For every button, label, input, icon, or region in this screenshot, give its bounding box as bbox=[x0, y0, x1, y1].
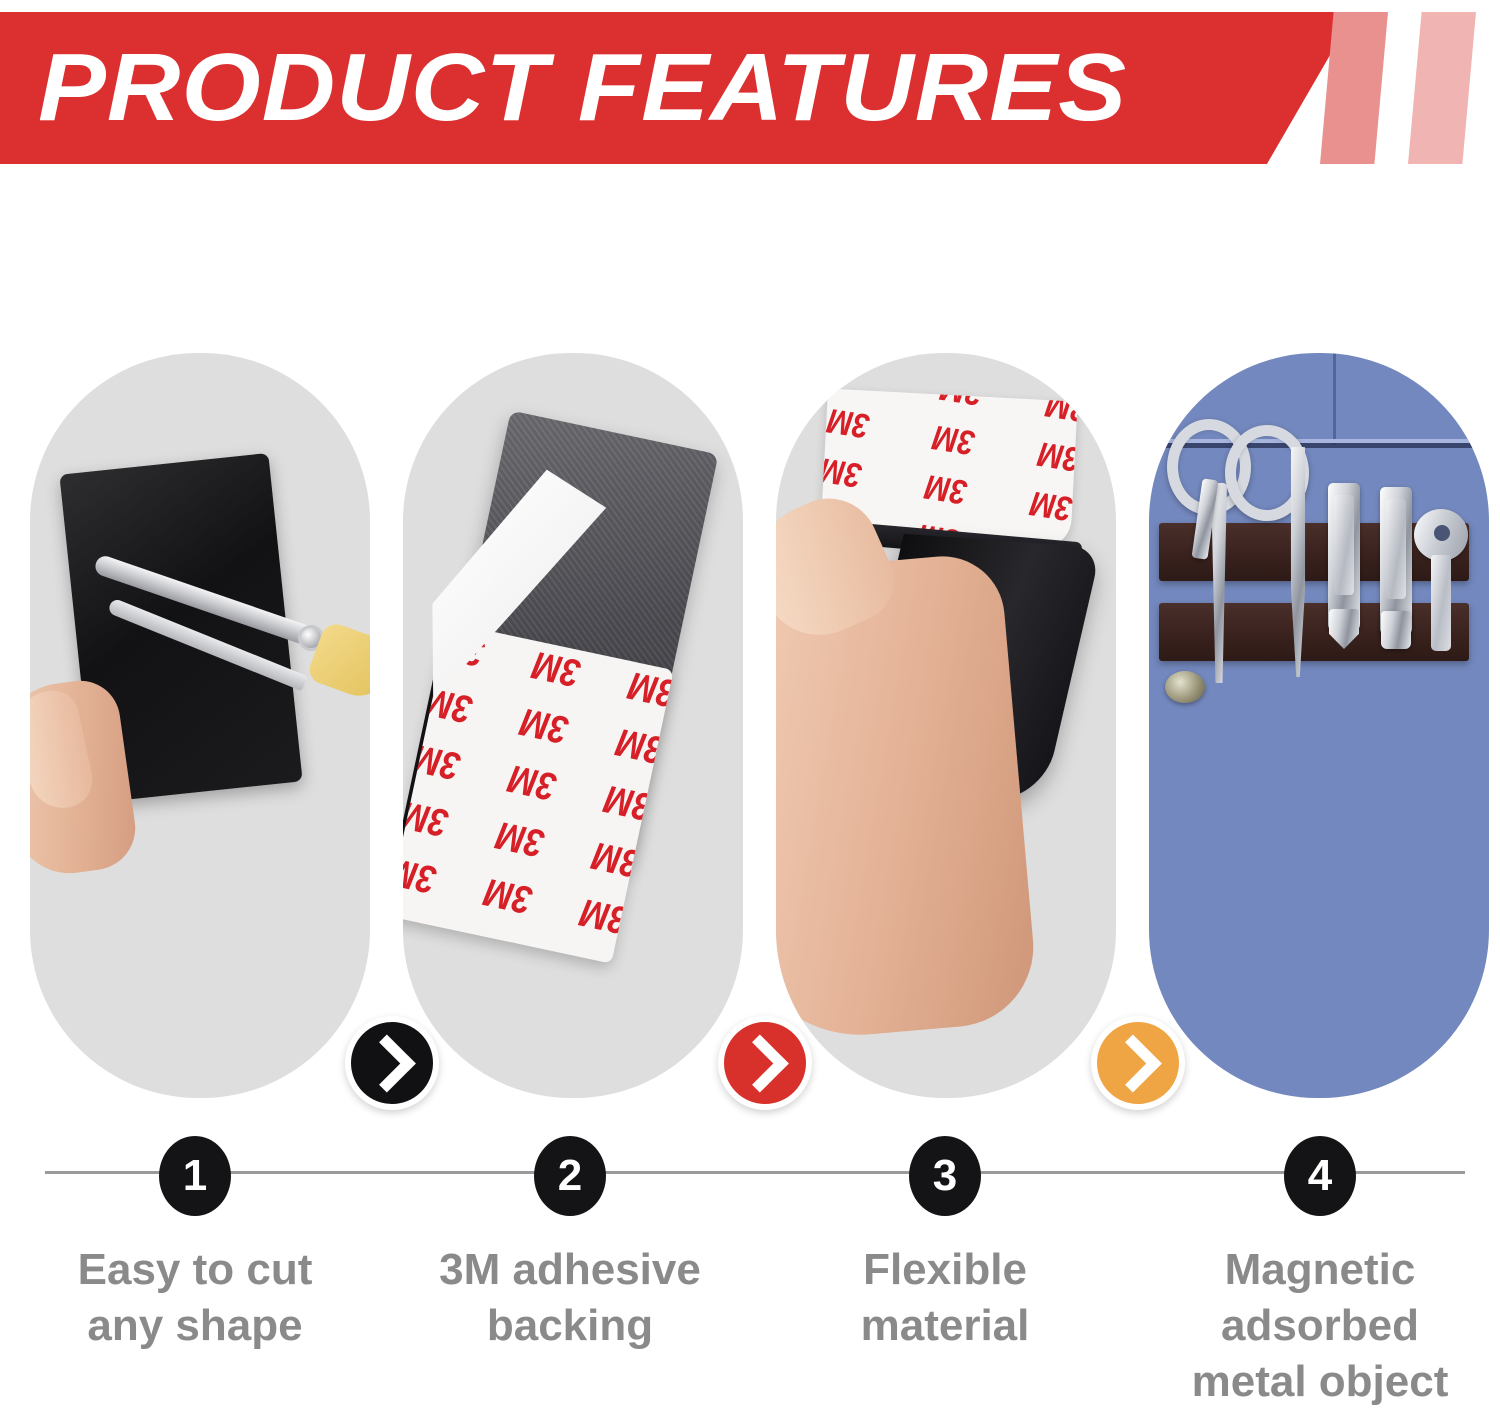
feature-panel-3-flexible: 3M 3M 3M 3M 3M 3M 3M 3M 3M 3M 3M 3M bbox=[776, 353, 1116, 1098]
step-caption-1: Easy to cutany shape bbox=[30, 1242, 360, 1354]
chevron-right-icon bbox=[357, 1034, 415, 1092]
step-caption-2: 3M adhesivebacking bbox=[405, 1242, 735, 1354]
header-banner: PRODUCT FEATURES bbox=[0, 12, 1380, 164]
clipper-lever bbox=[1386, 499, 1406, 599]
clipper-lever bbox=[1334, 495, 1354, 595]
feature-panel-1-cut bbox=[30, 353, 370, 1098]
step-badge-4: 4 bbox=[1284, 1136, 1356, 1216]
step-badge-3: 3 bbox=[909, 1136, 981, 1216]
step-caption-3: Flexiblematerial bbox=[780, 1242, 1110, 1354]
step-badge-1: 1 bbox=[159, 1136, 231, 1216]
magnetic-strip-lower bbox=[1159, 603, 1469, 661]
key-head-icon bbox=[1414, 509, 1468, 561]
feature-panel-2-adhesive: 3M 3M 3M 3M 3M 3M 3M 3M 3M 3M 3M 3M 3M 3… bbox=[403, 353, 743, 1098]
page-title: PRODUCT FEATURES bbox=[38, 26, 1310, 150]
step-timeline: 1 2 3 4 Easy to cutany shape 3M adhesive… bbox=[0, 1130, 1500, 1411]
timeline-rule bbox=[45, 1171, 1465, 1174]
chevron-right-icon bbox=[1103, 1034, 1161, 1092]
step-badge-2: 2 bbox=[534, 1136, 606, 1216]
arrow-badge-1 bbox=[345, 1016, 439, 1110]
arrow-badge-3 bbox=[1091, 1016, 1185, 1110]
clipper-jaw-2 bbox=[1381, 611, 1411, 649]
cabinet-screw bbox=[1165, 671, 1205, 703]
arrow-badge-2 bbox=[718, 1016, 812, 1110]
key-hole bbox=[1434, 525, 1450, 541]
banner-stripe-light bbox=[1408, 12, 1476, 164]
feature-panels: 3M 3M 3M 3M 3M 3M 3M 3M 3M 3M 3M 3M 3M 3… bbox=[0, 353, 1500, 1098]
key-blade bbox=[1431, 555, 1451, 651]
step-caption-4: Magneticadsorbedmetal object bbox=[1155, 1242, 1485, 1410]
adhesive-sheet-group: 3M 3M 3M 3M 3M 3M 3M 3M 3M 3M 3M 3M 3M 3… bbox=[403, 353, 743, 1098]
cabinet-seam-vertical bbox=[1333, 353, 1336, 445]
chevron-right-icon bbox=[730, 1034, 788, 1092]
feature-panel-4-magnetic bbox=[1149, 353, 1489, 1098]
